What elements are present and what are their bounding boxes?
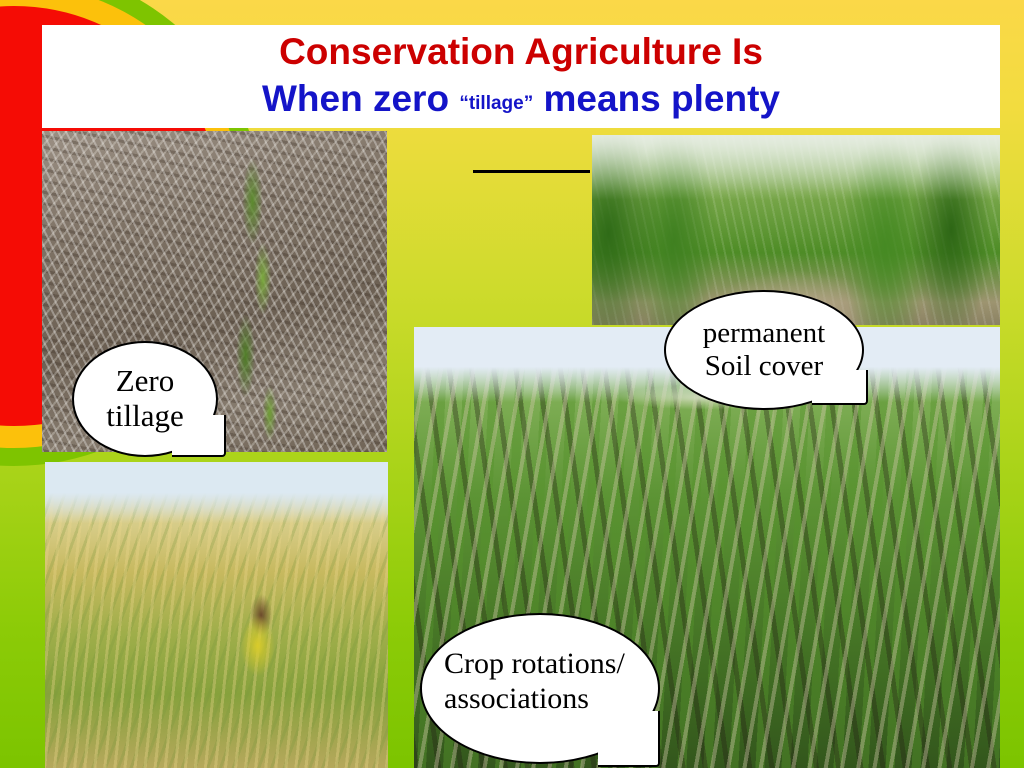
slide-title-line-1: Conservation Agriculture Is [42,29,1000,75]
rotation-field-photo [45,462,388,768]
callout-crop-rotations: Crop rotations/ associations [420,613,660,764]
callout-crop-rotations-line-2: associations [444,682,589,716]
slide-title-suffix: means plenty [533,78,780,119]
slide-title-line-2: When zero “tillage” means plenty [42,75,1000,128]
title-banner: Conservation Agriculture Is When zero “t… [42,25,1000,128]
callout-crop-rotations-text: Crop rotations/ associations [420,613,660,764]
callout-soil-cover-text: permanent Soil cover [664,290,864,410]
callout-soil-cover-line-2: Soil cover [705,350,823,383]
divider-rule [473,170,590,173]
callout-zero-tillage-text: Zero tillage [72,341,218,457]
callout-zero-tillage-line-1: Zero [116,363,175,398]
slide-title-quoted-word: “tillage” [459,93,533,114]
callout-soil-cover: permanent Soil cover [664,290,864,410]
presentation-slide: Conservation Agriculture Is When zero “t… [0,0,1024,768]
callout-crop-rotations-line-1: Crop rotations/ [444,647,625,681]
callout-zero-tillage-line-2: tillage [106,398,183,433]
callout-soil-cover-line-1: permanent [703,317,825,350]
callout-zero-tillage: Zero tillage [72,341,218,457]
slide-title-prefix: When zero [262,78,459,119]
